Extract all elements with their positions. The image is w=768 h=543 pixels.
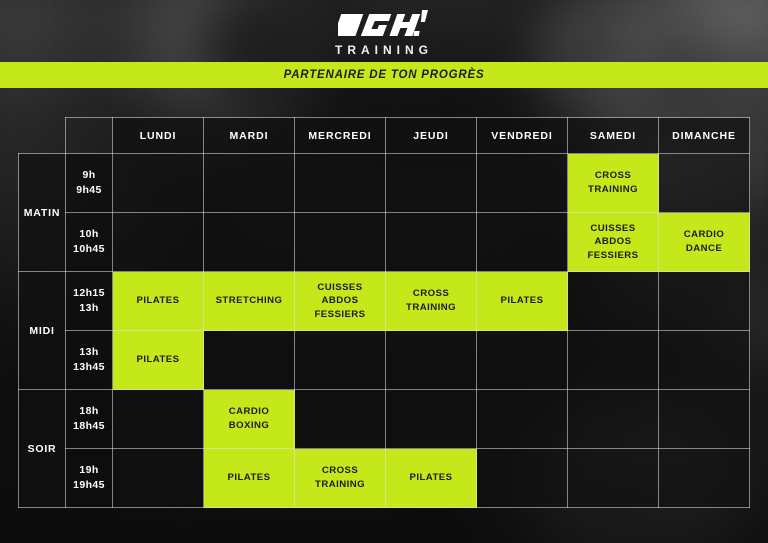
empty-cell [659, 449, 750, 508]
empty-cell [113, 154, 204, 213]
logo-mark-icon [338, 10, 430, 40]
class-name: CARDIOBOXING [204, 405, 294, 432]
class-name: CROSSTRAINING [386, 287, 476, 314]
class-name: PILATES [113, 294, 203, 308]
empty-cell [568, 449, 659, 508]
time-slot-label: 9h9h45 [66, 154, 113, 213]
class-name: PILATES [113, 353, 203, 367]
time-end: 13h [66, 301, 112, 316]
empty-cell [113, 213, 204, 272]
schedule-body: MATIN9h9h45CROSSTRAINING10h10h45CUISSES … [19, 154, 750, 508]
schedule-table: LUNDIMARDIMERCREDIJEUDIVENDREDISAMEDIDIM… [18, 117, 750, 508]
empty-cell [477, 390, 568, 449]
class-cell[interactable]: CUISSES ABDOSFESSIERS [295, 272, 386, 331]
schedule-row: 13h13h45PILATES [19, 331, 750, 390]
time-end: 13h45 [66, 360, 112, 375]
time-slot-label: 10h10h45 [66, 213, 113, 272]
day-header-jeudi: JEUDI [386, 118, 477, 154]
class-name: CUISSES ABDOSFESSIERS [568, 222, 658, 263]
class-cell[interactable]: STRETCHING [204, 272, 295, 331]
brand-logo: TRAINING [335, 10, 433, 57]
time-start: 19h [66, 463, 112, 478]
empty-cell [477, 331, 568, 390]
tagline-text: PARTENAIRE DE TON PROGRÈS [284, 69, 485, 81]
schedule-row: 10h10h45CUISSES ABDOSFESSIERSCARDIODANCE [19, 213, 750, 272]
empty-cell [204, 213, 295, 272]
empty-cell [113, 449, 204, 508]
period-label-matin: MATIN [19, 154, 66, 272]
class-cell[interactable]: CARDIOBOXING [204, 390, 295, 449]
day-header-mercredi: MERCREDI [295, 118, 386, 154]
time-start: 9h [66, 168, 112, 183]
period-label-soir: SOIR [19, 390, 66, 508]
time-start: 10h [66, 227, 112, 242]
empty-cell [295, 154, 386, 213]
schedule-row: MIDI12h1513hPILATESSTRETCHINGCUISSES ABD… [19, 272, 750, 331]
class-cell[interactable]: CROSSTRAINING [386, 272, 477, 331]
time-end: 9h45 [66, 183, 112, 198]
class-name: STRETCHING [204, 294, 294, 308]
empty-cell [386, 213, 477, 272]
time-slot-label: 13h13h45 [66, 331, 113, 390]
time-start: 12h15 [66, 286, 112, 301]
table-corner-cell [19, 118, 66, 154]
time-end: 10h45 [66, 242, 112, 257]
schedule-header-row: LUNDIMARDIMERCREDIJEUDIVENDREDISAMEDIDIM… [19, 118, 750, 154]
empty-cell [113, 390, 204, 449]
class-name: PILATES [477, 294, 567, 308]
class-cell[interactable]: PILATES [204, 449, 295, 508]
empty-cell [568, 331, 659, 390]
time-slot-label: 18h18h45 [66, 390, 113, 449]
class-name: CARDIODANCE [659, 228, 749, 255]
empty-cell [204, 331, 295, 390]
time-start: 18h [66, 404, 112, 419]
empty-cell [477, 213, 568, 272]
class-cell[interactable]: PILATES [386, 449, 477, 508]
empty-cell [659, 331, 750, 390]
class-name: CUISSES ABDOSFESSIERS [295, 281, 385, 322]
empty-cell [386, 154, 477, 213]
empty-cell [659, 272, 750, 331]
class-cell[interactable]: PILATES [113, 272, 204, 331]
schedule-row: 19h19h45PILATESCROSSTRAININGPILATES [19, 449, 750, 508]
class-cell[interactable]: PILATES [113, 331, 204, 390]
class-cell[interactable]: PILATES [477, 272, 568, 331]
schedule-row: SOIR18h18h45CARDIOBOXING [19, 390, 750, 449]
day-header-samedi: SAMEDI [568, 118, 659, 154]
empty-cell [568, 390, 659, 449]
class-name: CROSSTRAINING [568, 169, 658, 196]
time-slot-label: 12h1513h [66, 272, 113, 331]
schedule-table-container: LUNDIMARDIMERCREDIJEUDIVENDREDISAMEDIDIM… [18, 117, 750, 508]
empty-cell [659, 154, 750, 213]
empty-cell [295, 390, 386, 449]
tagline-banner: PARTENAIRE DE TON PROGRÈS [0, 62, 768, 88]
time-end: 18h45 [66, 419, 112, 434]
logo-subtitle: TRAINING [335, 43, 433, 57]
empty-cell [477, 154, 568, 213]
empty-cell [295, 213, 386, 272]
day-header-dimanche: DIMANCHE [659, 118, 750, 154]
empty-cell [386, 390, 477, 449]
day-header-lundi: LUNDI [113, 118, 204, 154]
empty-cell [568, 272, 659, 331]
page-header: TRAINING [0, 0, 768, 62]
empty-cell [386, 331, 477, 390]
class-cell[interactable]: CROSSTRAINING [568, 154, 659, 213]
class-name: PILATES [386, 471, 476, 485]
day-header-mardi: MARDI [204, 118, 295, 154]
day-header-vendredi: VENDREDI [477, 118, 568, 154]
schedule-row: MATIN9h9h45CROSSTRAINING [19, 154, 750, 213]
time-slot-label: 19h19h45 [66, 449, 113, 508]
period-label-midi: MIDI [19, 272, 66, 390]
class-cell[interactable]: CROSSTRAINING [295, 449, 386, 508]
table-corner-time-cell [66, 118, 113, 154]
class-cell[interactable]: CUISSES ABDOSFESSIERS [568, 213, 659, 272]
empty-cell [477, 449, 568, 508]
class-cell[interactable]: CARDIODANCE [659, 213, 750, 272]
empty-cell [204, 154, 295, 213]
time-start: 13h [66, 345, 112, 360]
class-name: PILATES [204, 471, 294, 485]
empty-cell [295, 331, 386, 390]
empty-cell [659, 390, 750, 449]
class-name: CROSSTRAINING [295, 464, 385, 491]
time-end: 19h45 [66, 478, 112, 493]
